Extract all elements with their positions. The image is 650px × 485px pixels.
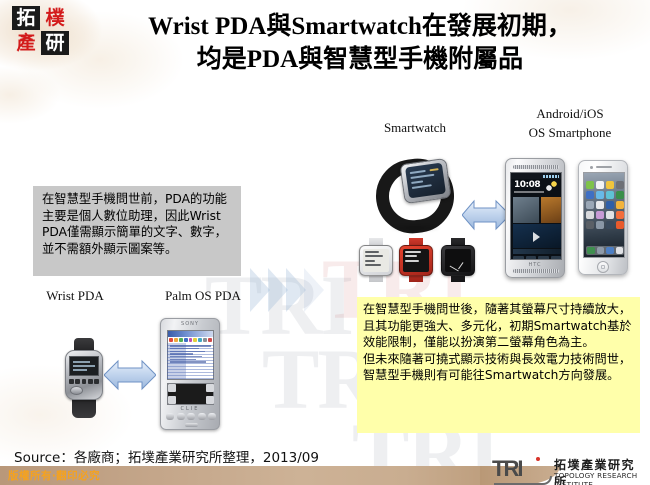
weather-subtext <box>514 191 544 193</box>
tri-logo-swoosh <box>494 476 552 485</box>
copyright-notice: 版權所有‧翻印必究 <box>8 468 100 483</box>
tri-logo-dot <box>536 457 540 461</box>
htc-brand-label: HTC <box>506 262 564 268</box>
pebble-watch-white <box>359 240 393 280</box>
tri-corporate-logo: TRI 拓墣產業研究所 TOPOLOGY RESEARCH INSTITUTE <box>492 456 644 482</box>
device-palm-os-pda: SONY CLIE <box>160 318 220 430</box>
label-smartphone: Android/iOS OS Smartphone <box>490 104 650 142</box>
watch-screen <box>403 249 429 272</box>
chevron-decoration <box>286 268 306 312</box>
pda-jog-dial <box>185 423 198 427</box>
phone-screen <box>583 172 625 258</box>
bottom-speaker <box>513 269 559 273</box>
blinkfeed-tile <box>513 249 561 254</box>
slide-canvas: TRI TRI TRI TRI TRI 拓 樸 產 研 Wrist PDA與Sm… <box>0 0 650 485</box>
graffiti-corner-button <box>206 396 214 404</box>
seal-char-yan: 研 <box>41 31 69 55</box>
pebble-watch-red <box>399 240 433 280</box>
callout-yellow-post-smartphone: 在智慧型手機問世後，隨著其螢幕尺寸持續放大，且其功能更強大、多元化，初期Smar… <box>357 297 640 433</box>
pda-screen-graphic <box>167 343 214 379</box>
phone-screen: 10:08 <box>510 172 562 260</box>
arrow-smartwatch-to-smartphone <box>462 198 510 232</box>
device-smartwatch-square <box>368 155 464 237</box>
watch-buttons <box>69 379 99 384</box>
tri-seal-logo: 拓 樸 產 研 <box>12 6 74 58</box>
device-pebble-watch-row <box>357 236 485 284</box>
pebble-watch-black <box>441 240 475 280</box>
callout-gray-pre-smartphone: 在智慧型手機問世前，PDA的功能主要是個人數位助理，因此Wrist PDA僅需顯… <box>33 186 241 276</box>
device-htc-one-smartphone: 10:08 HTC <box>505 158 565 278</box>
seal-char-chan: 產 <box>12 31 40 55</box>
blinkfeed-video-tile <box>513 224 561 248</box>
label-smartwatch: Smartwatch <box>335 120 495 136</box>
source-citation: Source：各廠商；拓墣產業研究所整理，2013/09 <box>14 446 319 466</box>
watch-crown <box>70 386 83 395</box>
app-dock <box>586 246 624 255</box>
chevron-decoration <box>304 268 324 312</box>
weather-icon <box>545 181 558 191</box>
graffiti-corner-button <box>206 384 214 392</box>
title-line-2: 均是PDA與智慧型手機附屬品 <box>80 43 640 76</box>
status-bar <box>511 173 561 179</box>
watch-screen <box>405 163 446 199</box>
seal-char-pu: 樸 <box>41 6 69 30</box>
sony-brand-label: SONY <box>161 321 219 327</box>
tri-logo-english-name: TOPOLOGY RESEARCH INSTITUTE <box>554 471 644 485</box>
slide-title: Wrist PDA與Smartwatch在發展初期， 均是PDA與智慧型手機附屬… <box>80 10 640 76</box>
graffiti-corner-button <box>168 396 176 404</box>
label-palm-pda: Palm OS PDA <box>128 288 278 304</box>
graffiti-corner-button <box>168 384 176 392</box>
watch-screen <box>445 249 471 272</box>
watch-screen <box>69 356 99 376</box>
title-line-1: Wrist PDA與Smartwatch在發展初期， <box>80 10 640 43</box>
seal-char-tuo: 拓 <box>12 6 40 30</box>
watch-screen <box>363 249 389 272</box>
earpiece-speaker <box>513 165 559 169</box>
app-icon-grid <box>586 181 624 229</box>
home-button <box>597 261 609 273</box>
blinkfeed-tile <box>541 197 561 223</box>
arrow-wrist-to-palm <box>104 358 156 392</box>
front-camera <box>590 166 593 169</box>
earpiece-speaker <box>596 166 612 168</box>
pda-hardware-buttons <box>166 412 216 421</box>
device-iphone-smartphone <box>578 160 628 275</box>
app-dock <box>513 255 561 260</box>
device-wrist-pda <box>62 338 106 418</box>
lockscreen-clock: 10:08 <box>514 180 540 190</box>
blinkfeed-tile <box>513 197 539 223</box>
clock-hand-hour <box>458 262 463 269</box>
